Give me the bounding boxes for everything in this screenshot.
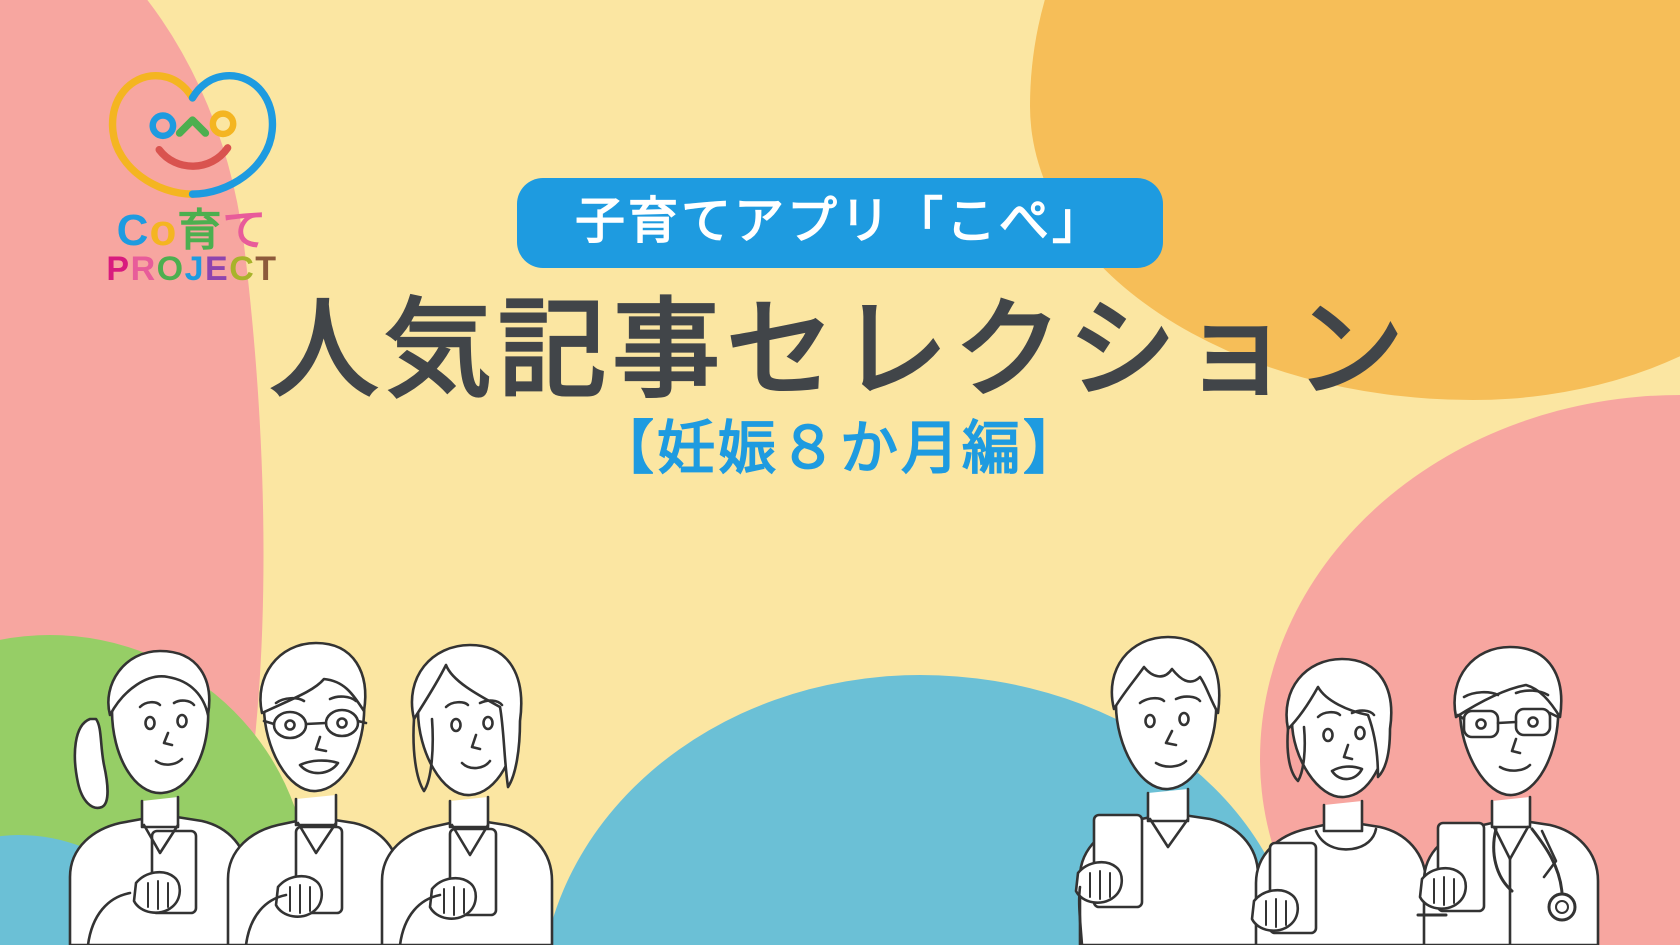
woman-ponytail-with-phone — [70, 651, 248, 945]
young-man-with-phone — [1076, 637, 1258, 945]
page-title: 人気記事セレクション — [0, 290, 1680, 411]
left-group-lineart — [52, 615, 572, 945]
poster-canvas: Co育て PROJECT 子育てアプリ「こぺ」 人気記事セレクション 【妊娠８か… — [0, 0, 1680, 945]
woman-bob-hair-with-phone — [382, 645, 552, 945]
page-subtitle: 【妊娠８か月編】 — [0, 417, 1680, 481]
short-hair-woman-with-phone — [1252, 659, 1426, 945]
right-group-lineart — [1060, 615, 1620, 945]
illustration-people-left — [52, 615, 572, 945]
older-man-glasses-with-phone — [228, 643, 400, 945]
app-name-pill: 子育てアプリ「こぺ」 — [517, 178, 1163, 268]
headline-block: 子育てアプリ「こぺ」 人気記事セレクション 【妊娠８か月編】 — [0, 178, 1680, 481]
doctor-glasses-stethoscope-with-phone — [1418, 647, 1598, 945]
illustration-people-right — [1060, 615, 1620, 945]
